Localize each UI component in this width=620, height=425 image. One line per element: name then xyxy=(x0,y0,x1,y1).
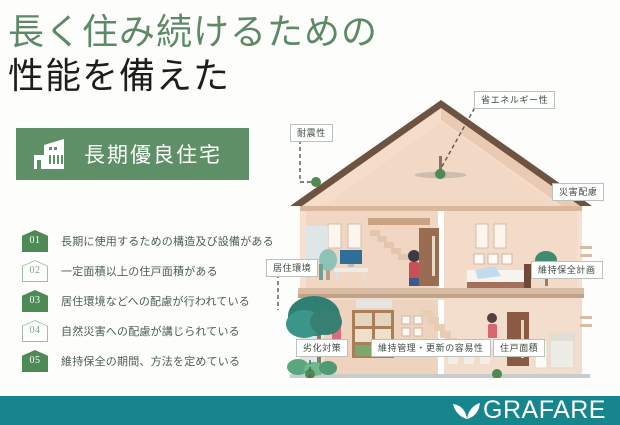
list-item: 03 居住環境などへの配慮が行われている xyxy=(22,286,277,316)
criteria-text: 長期に使用するための構造及び設備がある xyxy=(61,233,274,249)
criteria-badge: 04 xyxy=(22,320,48,342)
criteria-number: 01 xyxy=(30,236,41,246)
criteria-number: 04 xyxy=(30,326,41,336)
callout-ijihozen: 維持保全計画 xyxy=(531,261,603,279)
poster-canvas: 長く住み続けるための 性能を備えた 長期優良住宅 01 長期に使用するための構造… xyxy=(0,0,620,425)
house-illustration-svg xyxy=(262,78,620,378)
anchor-dot-taishin xyxy=(311,177,321,187)
callout-ijikanri: 維持管理・更新の容易性 xyxy=(371,339,491,357)
list-item: 02 一定面積以上の住戸面積がある xyxy=(22,256,277,286)
criteria-number: 05 xyxy=(30,356,41,366)
criteria-badge: 05 xyxy=(22,350,48,372)
callout-shoene: 省エネルギー性 xyxy=(474,91,555,109)
criteria-number: 02 xyxy=(30,266,41,276)
callout-jyuko: 住戸面積 xyxy=(493,339,545,357)
building-icon xyxy=(30,135,74,173)
criteria-text: 自然災害への配慮が講じられている xyxy=(61,323,240,339)
leaf-v-icon xyxy=(451,401,481,421)
leader-line-taishin xyxy=(300,140,312,182)
callout-taishin: 耐震性 xyxy=(290,124,333,142)
criteria-text: 居住環境などへの配慮が行われている xyxy=(61,293,250,309)
brand-logo: GRAFARE xyxy=(451,398,606,423)
criteria-text: 一定面積以上の住戸面積がある xyxy=(61,263,218,279)
headline-line-1: 長く住み続けるための xyxy=(8,10,378,54)
certification-banner: 長期優良住宅 xyxy=(16,128,249,180)
criteria-number: 03 xyxy=(30,296,41,306)
list-item: 04 自然災害への配慮が講じられている xyxy=(22,316,277,346)
anchor-dot-shoene xyxy=(435,169,445,179)
criteria-badge: 03 xyxy=(22,290,48,312)
list-item: 05 維持保全の期間、方法を定めている xyxy=(22,346,277,376)
criteria-badge: 01 xyxy=(22,230,48,252)
footer-bar: GRAFARE xyxy=(0,396,620,425)
list-item: 01 長期に使用するための構造及び設備がある xyxy=(22,226,277,256)
callout-rekka: 劣化対策 xyxy=(296,339,348,357)
certification-banner-label: 長期優良住宅 xyxy=(84,139,222,169)
callout-kyojyu: 居住環境 xyxy=(266,259,318,277)
callout-saigai: 災害配慮 xyxy=(552,183,604,201)
criteria-text: 維持保全の期間、方法を定めている xyxy=(61,353,240,369)
brand-name: GRAFARE xyxy=(483,398,606,423)
criteria-list: 01 長期に使用するための構造及び設備がある 02 一定面積以上の住戸面積がある… xyxy=(22,226,277,376)
criteria-badge: 02 xyxy=(22,260,48,282)
house-cutaway-illustration xyxy=(262,78,620,378)
